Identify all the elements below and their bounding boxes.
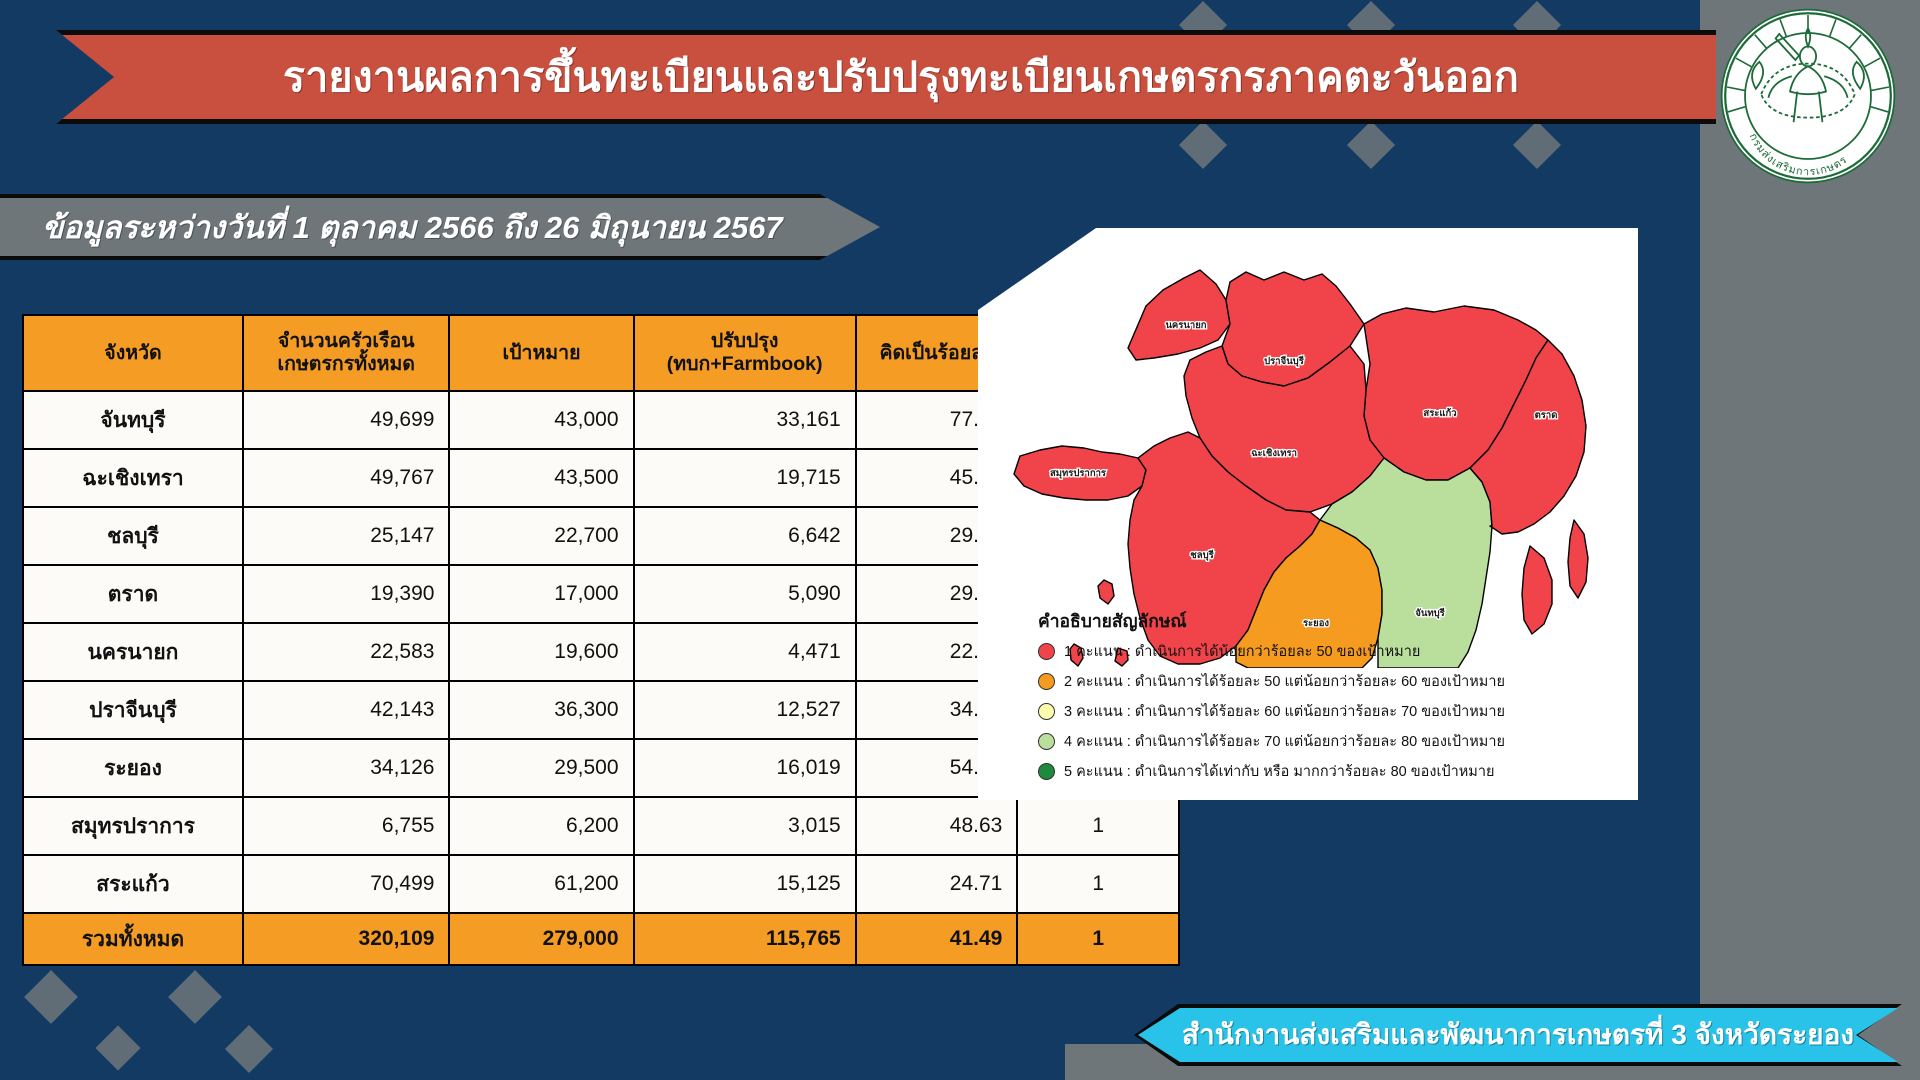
cell-updated: 19,715 bbox=[634, 449, 856, 507]
cell-province: สมุทรปราการ bbox=[23, 797, 243, 855]
header-line: ปรับปรุง bbox=[711, 330, 779, 352]
legend-item-label: 4 คะแนน : ดำเนินการได้ร้อยละ 70 แต่น้อยก… bbox=[1064, 730, 1505, 753]
cell-percent: 24.71 bbox=[856, 855, 1018, 913]
cell-score-sum: 1 bbox=[1017, 913, 1179, 965]
department-seal-logo-icon: กรมส่งเสริมการเกษตร bbox=[1718, 6, 1898, 186]
cell-updated: 15,125 bbox=[634, 855, 856, 913]
legend-rows: 1 คะแนน : ดำเนินการได้น้อยกว่าร้อยละ 50 … bbox=[1038, 640, 1623, 783]
cell-updated: 3,015 bbox=[634, 797, 856, 855]
legend-item: 4 คะแนน : ดำเนินการได้ร้อยละ 70 แต่น้อยก… bbox=[1038, 730, 1623, 753]
legend-title: คำอธิบายสัญลักษณ์ bbox=[1038, 607, 1623, 635]
cell-province: ปราจีนบุรี bbox=[23, 681, 243, 739]
legend-item-label: 3 คะแนน : ดำเนินการได้ร้อยละ 60 แต่น้อยก… bbox=[1064, 700, 1505, 723]
cell-updated-sum: 115,765 bbox=[634, 913, 856, 965]
map-label-chachoengsao: ฉะเชิงเทรา bbox=[1251, 448, 1297, 459]
report-title-banner: รายงานผลการขึ้นทะเบียนและปรับปรุงทะเบียน… bbox=[56, 30, 1716, 124]
map-legend: คำอธิบายสัญลักษณ์ 1 คะแนน : ดำเนินการได้… bbox=[1038, 607, 1623, 790]
legend-item: 1 คะแนน : ดำเนินการได้น้อยกว่าร้อยละ 50 … bbox=[1038, 640, 1623, 663]
cell-percent-sum: 41.49 bbox=[856, 913, 1018, 965]
map-card: นครนายก ปราจีนบุรี สระแก้ว ฉะเชิงเทรา สม… bbox=[978, 228, 1638, 800]
column-header-total-households: จำนวนครัวเรือน เกษตรกรทั้งหมด bbox=[243, 315, 450, 391]
cell-province: จันทบุรี bbox=[23, 391, 243, 449]
cell-province: ตราด bbox=[23, 565, 243, 623]
cell-target: 43,000 bbox=[449, 391, 633, 449]
cell-percent: 48.63 bbox=[856, 797, 1018, 855]
header-line: จังหวัด bbox=[104, 342, 161, 364]
footer-banner: สำนักงานส่งเสริมและพัฒนาการเกษตรที่ 3 จั… bbox=[1138, 1008, 1898, 1062]
legend-color-swatch-icon bbox=[1038, 643, 1055, 660]
cell-total-households: 49,767 bbox=[243, 449, 450, 507]
table-row: สมุทรปราการ6,7556,2003,01548.631 bbox=[23, 797, 1179, 855]
footer-office-name: สำนักงานส่งเสริมและพัฒนาการเกษตรที่ 3 จั… bbox=[1182, 1013, 1854, 1057]
cell-target: 29,500 bbox=[449, 739, 633, 797]
cell-updated: 33,161 bbox=[634, 391, 856, 449]
cell-total-label: รวมทั้งหมด bbox=[23, 913, 243, 965]
header-line: เป้าหมาย bbox=[502, 342, 580, 364]
date-range-banner: ข้อมูลระหว่างวันที่ 1 ตุลาคม 2566 ถึง 26… bbox=[0, 194, 880, 260]
map-label-nakhon-nayok: นครนายก bbox=[1165, 320, 1206, 331]
date-range-text: ข้อมูลระหว่างวันที่ 1 ตุลาคม 2566 ถึง 26… bbox=[0, 202, 783, 252]
cell-updated: 5,090 bbox=[634, 565, 856, 623]
map-label-prachin-buri: ปราจีนบุรี bbox=[1264, 355, 1305, 367]
cell-province: ฉะเชิงเทรา bbox=[23, 449, 243, 507]
map-label-samut-prakan: สมุทรปราการ bbox=[1050, 467, 1107, 479]
header-line: เกษตรกรทั้งหมด bbox=[277, 353, 415, 375]
cell-target: 6,200 bbox=[449, 797, 633, 855]
map-label-chon-buri: ชลบุรี bbox=[1190, 549, 1214, 561]
cell-total-households: 19,390 bbox=[243, 565, 450, 623]
cell-province: นครนายก bbox=[23, 623, 243, 681]
map-label-trat: ตราด bbox=[1535, 410, 1558, 421]
legend-color-swatch-icon bbox=[1038, 733, 1055, 750]
cell-target: 61,200 bbox=[449, 855, 633, 913]
column-header-province: จังหวัด bbox=[23, 315, 243, 391]
header-line: (ทบก+Farmbook) bbox=[667, 353, 823, 375]
background-navy-bottom-left bbox=[0, 1044, 1065, 1080]
cell-total-households: 42,143 bbox=[243, 681, 450, 739]
cell-total-households: 70,499 bbox=[243, 855, 450, 913]
map-region-nakhon-nayok bbox=[1128, 270, 1230, 360]
page-title: รายงานผลการขึ้นทะเบียนและปรับปรุงทะเบียน… bbox=[253, 45, 1519, 110]
cell-target-sum: 279,000 bbox=[449, 913, 633, 965]
cell-total-households: 49,699 bbox=[243, 391, 450, 449]
legend-color-swatch-icon bbox=[1038, 673, 1055, 690]
cell-target: 17,000 bbox=[449, 565, 633, 623]
legend-item-label: 2 คะแนน : ดำเนินการได้ร้อยละ 50 แต่น้อยก… bbox=[1064, 670, 1505, 693]
cell-score: 1 bbox=[1017, 855, 1179, 913]
cell-score: 1 bbox=[1017, 797, 1179, 855]
cell-province: สระแก้ว bbox=[23, 855, 243, 913]
cell-total-households-sum: 320,109 bbox=[243, 913, 450, 965]
cell-province: ระยอง bbox=[23, 739, 243, 797]
table-row: สระแก้ว70,49961,20015,12524.711 bbox=[23, 855, 1179, 913]
eastern-region-map: นครนายก ปราจีนบุรี สระแก้ว ฉะเชิงเทรา สม… bbox=[978, 228, 1638, 668]
map-region-trat-islands bbox=[1568, 520, 1588, 598]
cell-target: 19,600 bbox=[449, 623, 633, 681]
legend-color-swatch-icon bbox=[1038, 703, 1055, 720]
infographic-canvas: รายงานผลการขึ้นทะเบียนและปรับปรุงทะเบียน… bbox=[0, 0, 1920, 1080]
cell-updated: 4,471 bbox=[634, 623, 856, 681]
cell-target: 36,300 bbox=[449, 681, 633, 739]
legend-item: 5 คะแนน : ดำเนินการได้เท่ากับ หรือ มากกว… bbox=[1038, 760, 1623, 783]
cell-updated: 16,019 bbox=[634, 739, 856, 797]
header-line: คิดเป็นร้อยละ bbox=[879, 342, 993, 364]
map-region-chon-buri-islands bbox=[1098, 580, 1114, 604]
cell-total-households: 25,147 bbox=[243, 507, 450, 565]
header-line: จำนวนครัวเรือน bbox=[278, 330, 415, 352]
legend-color-swatch-icon bbox=[1038, 763, 1055, 780]
column-header-updated: ปรับปรุง (ทบก+Farmbook) bbox=[634, 315, 856, 391]
cell-target: 22,700 bbox=[449, 507, 633, 565]
cell-total-households: 6,755 bbox=[243, 797, 450, 855]
cell-total-households: 34,126 bbox=[243, 739, 450, 797]
legend-item-label: 1 คะแนน : ดำเนินการได้น้อยกว่าร้อยละ 50 … bbox=[1064, 640, 1420, 663]
table-total-row: รวมทั้งหมด320,109279,000115,76541.491 bbox=[23, 913, 1179, 965]
cell-province: ชลบุรี bbox=[23, 507, 243, 565]
legend-item: 3 คะแนน : ดำเนินการได้ร้อยละ 60 แต่น้อยก… bbox=[1038, 700, 1623, 723]
cell-target: 43,500 bbox=[449, 449, 633, 507]
cell-total-households: 22,583 bbox=[243, 623, 450, 681]
cell-updated: 12,527 bbox=[634, 681, 856, 739]
legend-item: 2 คะแนน : ดำเนินการได้ร้อยละ 50 แต่น้อยก… bbox=[1038, 670, 1623, 693]
cell-updated: 6,642 bbox=[634, 507, 856, 565]
column-header-target: เป้าหมาย bbox=[449, 315, 633, 391]
legend-item-label: 5 คะแนน : ดำเนินการได้เท่ากับ หรือ มากกว… bbox=[1064, 760, 1495, 783]
map-label-sa-kaeo: สระแก้ว bbox=[1423, 407, 1456, 419]
